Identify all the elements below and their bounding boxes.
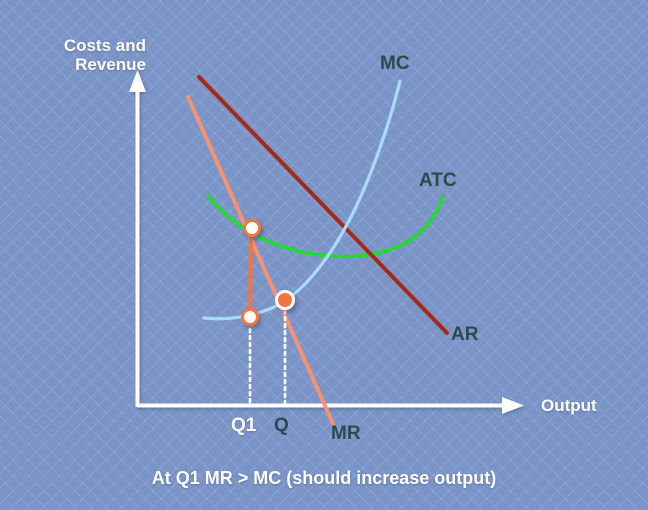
marker-mr-equals-mc xyxy=(277,292,294,309)
y-axis-label: Costs and Revenue xyxy=(30,36,146,74)
x-axis xyxy=(137,397,524,414)
mc-curve-label: MC xyxy=(380,53,410,74)
q1-vertical-connector xyxy=(250,228,251,318)
ar-line-label: AR xyxy=(451,324,478,345)
economics-diagram-canvas: Costs and Revenue Output MC ATC AR MR Q1… xyxy=(0,0,648,510)
mr-line-label: MR xyxy=(331,423,361,444)
figure-caption: At Q1 MR > MC (should increase output) xyxy=(0,468,648,488)
x-tick-label-q1: Q1 xyxy=(231,415,256,436)
x-axis-label: Output xyxy=(541,396,597,415)
marker-mc-at-q1 xyxy=(243,310,258,325)
x-tick-label-q: Q xyxy=(274,415,289,436)
mr-line xyxy=(188,97,333,424)
marker-atc-at-q1 xyxy=(245,221,260,236)
y-axis xyxy=(129,70,146,407)
atc-curve-label: ATC xyxy=(419,170,457,191)
diagram-graphics xyxy=(0,0,648,510)
